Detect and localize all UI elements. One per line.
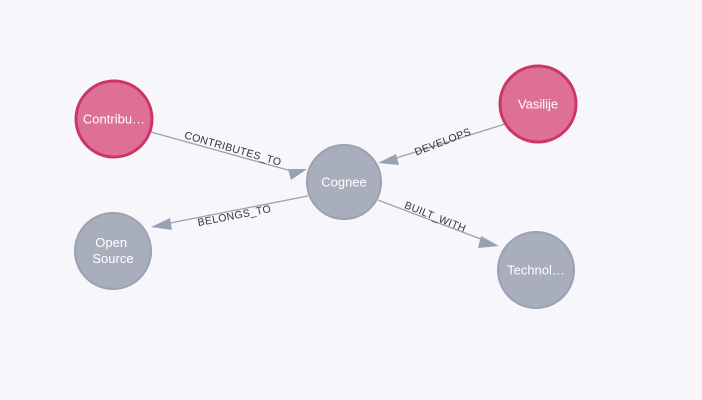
node-open-source[interactable]: Open Source [75,213,151,289]
node-contributor[interactable]: Contribu… [76,81,152,157]
edge-belongs-to-arrow [151,218,172,230]
edge-develops-arrowhead [378,154,399,165]
edge-built-with-arrowhead [478,236,499,248]
node-vasilije[interactable]: Vasilije [500,66,576,142]
edge-label-contributes-to: CONTRIBUTES_TO [183,130,283,169]
edge-label-develops: DEVELOPS [413,126,473,158]
node-technology[interactable]: Technol… [498,232,574,308]
edge-label-belongs-to: BELONGS_TO [197,203,272,229]
edge-contributes-to-arrowhead [288,169,307,180]
node-open-source-label: Open Source [92,235,133,266]
node-cognee-label: Cognee [321,174,367,189]
node-open-source-label-line2: Source [92,251,133,266]
node-layer: Contribu… Vasilije Cognee Open Source [75,66,576,308]
edge-label-built-with: BUILT_WITH [403,199,468,235]
node-open-source-label-line1: Open [95,235,127,250]
knowledge-graph[interactable]: CONTRIBUTES_TO DEVELOPS BELONGS_TO BUILT… [0,0,702,400]
node-vasilije-label: Vasilije [518,96,558,111]
graph-canvas[interactable]: CONTRIBUTES_TO DEVELOPS BELONGS_TO BUILT… [0,0,702,400]
node-contributor-label: Contribu… [83,111,145,126]
edge-contributes-to[interactable] [151,132,307,180]
node-cognee[interactable]: Cognee [307,145,381,219]
node-technology-label: Technol… [507,262,565,277]
